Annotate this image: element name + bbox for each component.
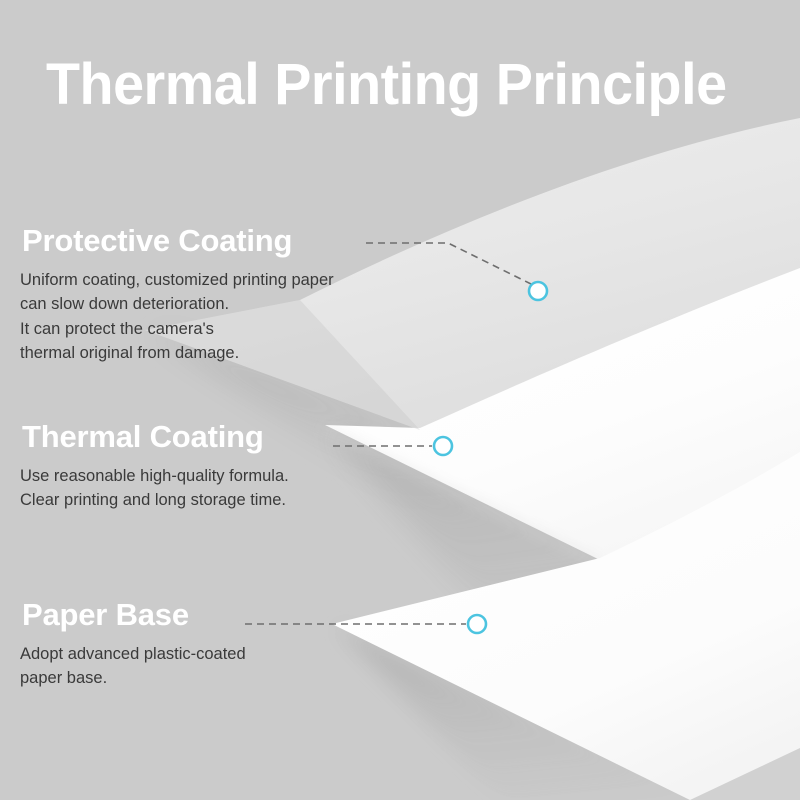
layer-marker-thermal-coating — [434, 437, 452, 455]
thermal-printing-principle-infographic: Thermal Printing Principle Protective Co… — [0, 0, 800, 800]
connector-line-protective-coating — [366, 243, 531, 284]
layer-marker-protective-coating — [529, 282, 547, 300]
layer-marker-paper-base — [468, 615, 486, 633]
callout-connectors — [0, 0, 800, 800]
